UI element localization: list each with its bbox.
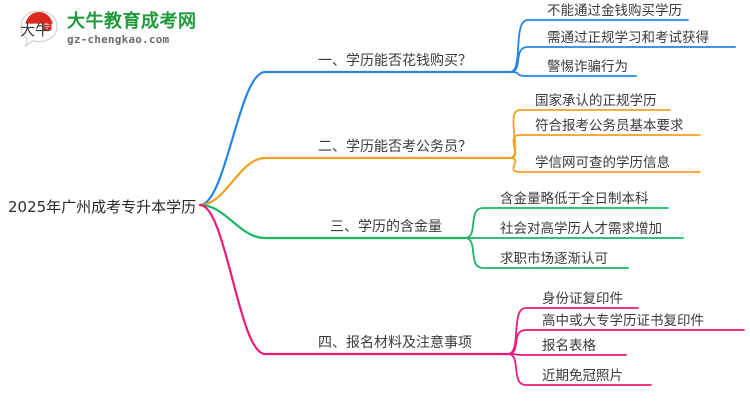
leaf-label-1-2[interactable]: 需通过正规学习和考试获得 — [547, 26, 709, 46]
leaf-label-4-2[interactable]: 高中或大专学历证书复印件 — [542, 309, 704, 329]
leaf-label-3-1[interactable]: 含金量略低于全日制本科 — [500, 187, 649, 207]
leaf-label-3-2[interactable]: 社会对高学历人才需求增加 — [500, 217, 662, 237]
leaf-label-4-4[interactable]: 近期免冠照片 — [542, 364, 623, 384]
branch-connector-2 — [200, 158, 510, 205]
leaf-label-2-3[interactable]: 学信网可查的学历信息 — [535, 151, 670, 171]
branch-label-2[interactable]: 二、学历能否考公务员？ — [318, 136, 472, 156]
branch-label-4[interactable]: 四、报名材料及注意事项 — [318, 332, 472, 352]
leaf-label-4-1[interactable]: 身份证复印件 — [542, 287, 623, 307]
leaf-label-4-3[interactable]: 报名表格 — [542, 334, 596, 354]
leaf-label-3-3[interactable]: 求职市场逐渐认可 — [500, 247, 608, 267]
leaf-label-1-1[interactable]: 不能通过金钱购买学历 — [547, 0, 682, 19]
leaf-label-2-1[interactable]: 国家承认的正规学历 — [535, 89, 657, 109]
leaf-label-2-2[interactable]: 符合报考公务员基本要求 — [535, 114, 684, 134]
leaf-label-1-3[interactable]: 警惕诈骗行为 — [547, 55, 628, 75]
branch-label-3[interactable]: 三、学历的含金量 — [330, 216, 442, 236]
branch-label-1[interactable]: 一、学历能否花钱购买？ — [318, 50, 472, 70]
mindmap-root-node[interactable]: 2025年广州成考专升本学历 — [8, 196, 196, 217]
leaf-connector-4-3 — [508, 354, 626, 355]
mindmap-canvas: 牛 大牛 大牛教育成考网 gz-chengkao.com 2025年广州成考专升… — [0, 0, 750, 410]
